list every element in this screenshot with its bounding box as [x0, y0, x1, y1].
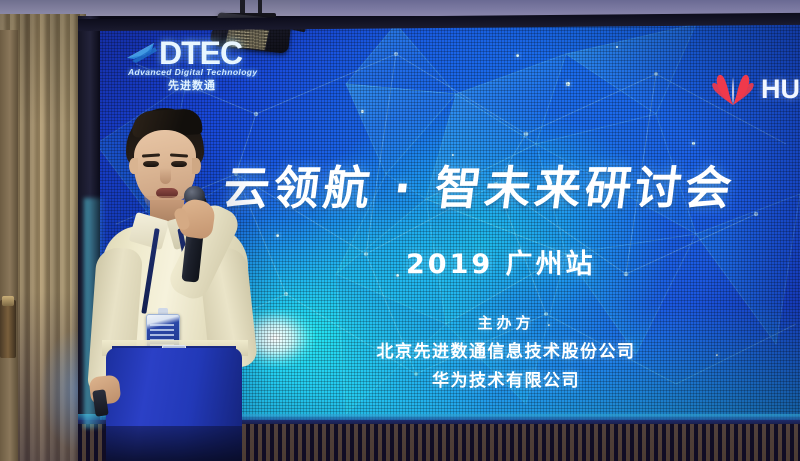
sparkle — [616, 46, 618, 48]
huawei-petal-icon — [708, 72, 758, 106]
dtec-wordmark: DTEC — [159, 40, 242, 66]
organizer-line-2: 华为技术有限公司 — [246, 366, 766, 391]
door-panel — [0, 30, 18, 461]
sparkle — [566, 82, 570, 86]
dtec-logo: DTEC Advanced Digital Technology 先进数通 — [124, 40, 304, 93]
speaker-nose — [160, 168, 171, 184]
sparkle — [361, 110, 364, 113]
sparkle — [396, 274, 399, 277]
slide-title: 云领航 · 智未来研讨会 — [220, 152, 798, 218]
speaker-eye-right — [171, 161, 187, 167]
dtec-tagline-en: Advanced Digital Technology — [128, 67, 304, 77]
sparkle — [516, 54, 519, 57]
organizer-line-1: 北京先进数通信息技术股份公司 — [246, 337, 766, 362]
speaker-figure — [88, 108, 278, 461]
speaker-eye-left — [143, 161, 159, 167]
speaker-ear-left — [129, 158, 138, 174]
dtec-arrow-icon — [124, 41, 158, 65]
screenshot-root: DTEC Advanced Digital Technology 先进数通 HU… — [0, 0, 800, 461]
door-handle — [0, 300, 16, 358]
speaker-ear-right — [192, 158, 201, 174]
speaker-trousers-shadow — [106, 426, 242, 461]
organizer-block: 主办方 北京先进数通信息技术股份公司 华为技术有限公司 — [246, 312, 766, 391]
dtec-tagline-cn: 先进数通 — [168, 77, 304, 93]
organizer-label: 主办方 — [246, 312, 766, 333]
huawei-logo: HUA — [708, 72, 800, 106]
sparkle — [692, 142, 695, 145]
light-mount-pole-2 — [258, 0, 262, 13]
door-latch — [2, 296, 14, 306]
huawei-wordmark: HUA — [761, 74, 800, 105]
slide-subtitle: 2019 广州站 — [406, 242, 596, 281]
